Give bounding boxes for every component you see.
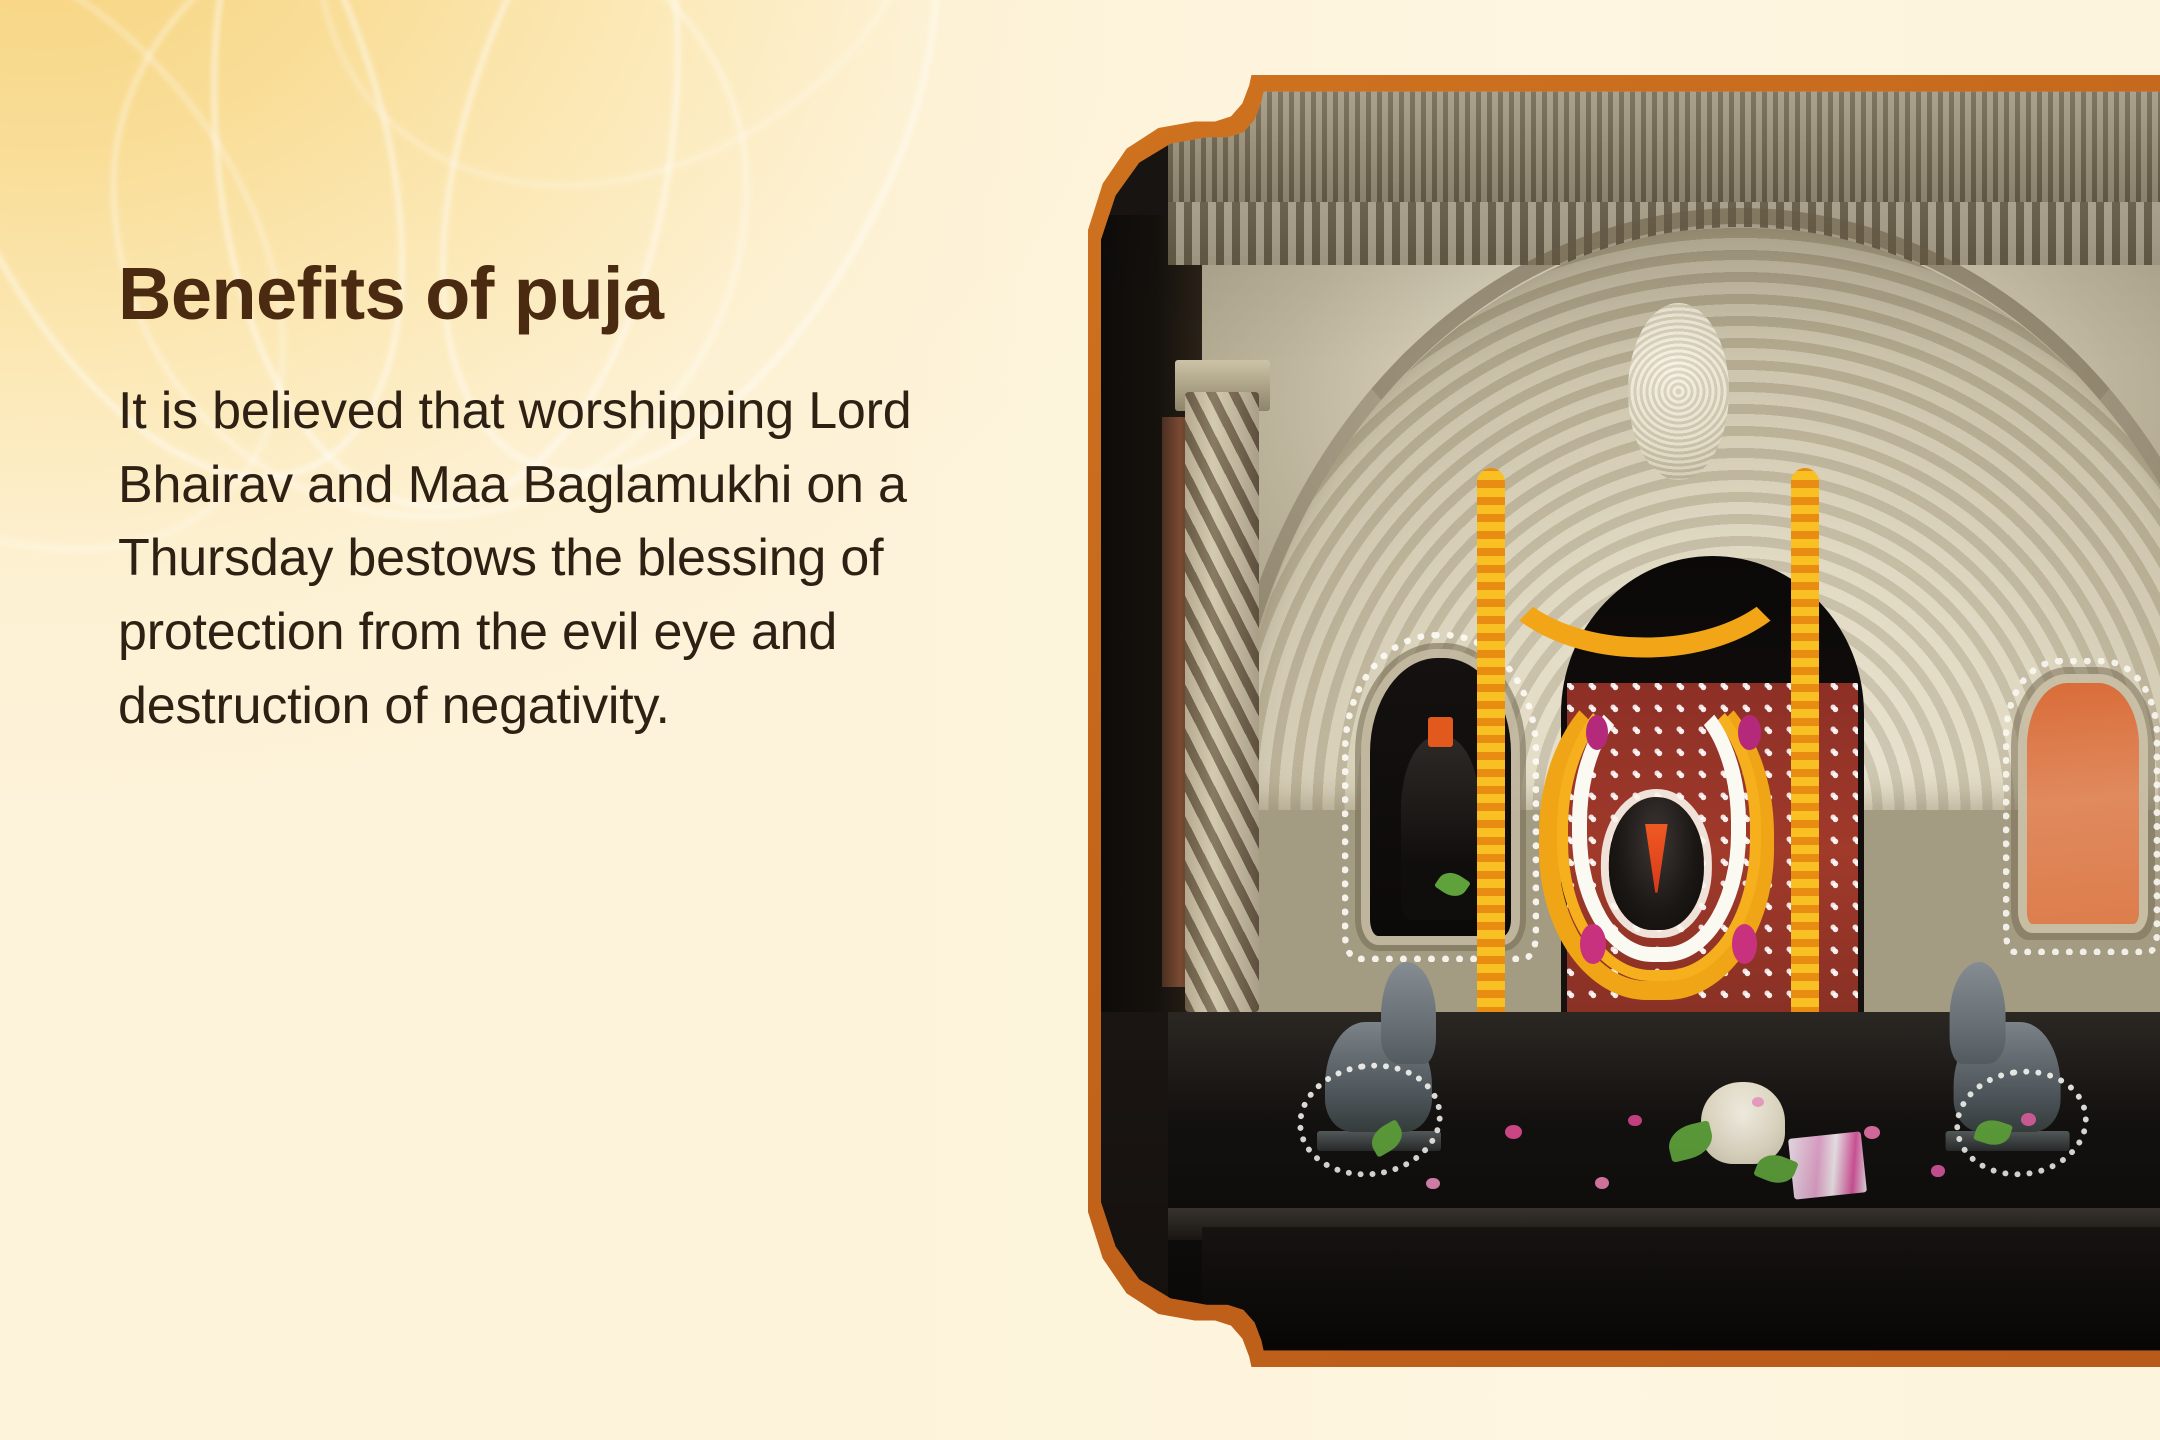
right-niche-bead-garland <box>2003 658 2160 956</box>
flower-petal <box>1628 1115 1641 1126</box>
prasad-offering <box>1701 1082 1785 1164</box>
flower-petal <box>1931 1165 1944 1176</box>
dog-head <box>1381 962 1436 1065</box>
offering-packet <box>1788 1131 1867 1199</box>
body-paragraph: It is believed that worshipping Lord Bha… <box>118 375 938 744</box>
pink-flower-accent <box>1580 924 1606 965</box>
red-tilak <box>1645 824 1668 893</box>
bhairav-face <box>1609 797 1703 930</box>
pink-flower-accent <box>1586 715 1608 750</box>
marigold-drape-top <box>1482 455 1807 658</box>
page-title: Benefits of puja <box>118 255 938 333</box>
text-column: Benefits of puja It is believed that wor… <box>118 255 938 744</box>
flower-petal <box>1505 1125 1522 1139</box>
flower-petal <box>2021 1113 2036 1126</box>
shrine-photo-card <box>1088 75 2160 1367</box>
arch-medallion <box>1628 303 1729 480</box>
platform-step <box>1202 1227 2160 1354</box>
shrine-illustration <box>1101 88 2160 1354</box>
flower-petal <box>1864 1126 1880 1139</box>
shrine-photo <box>1101 88 2160 1354</box>
pink-flower-accent <box>1738 715 1760 750</box>
dog-head <box>1949 962 2004 1065</box>
carved-lintel-band <box>1168 88 2160 202</box>
left-niche-bead-garland <box>1342 632 1538 961</box>
poster-canvas: Benefits of puja It is believed that wor… <box>0 0 2160 1440</box>
pink-flower-accent <box>1732 924 1758 965</box>
twisted-silver-pillar <box>1185 392 1259 1012</box>
